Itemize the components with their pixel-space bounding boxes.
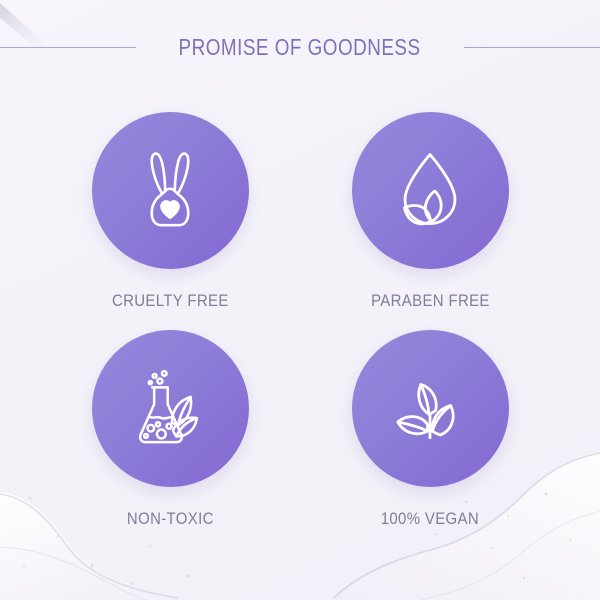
badge-label: 100% VEGAN (381, 509, 479, 529)
badge-disc (352, 330, 509, 487)
badge-paraben-free[interactable]: PARABEN FREE (352, 112, 509, 330)
badge-grid: CRUELTY FREE PARABEN FREE (40, 112, 560, 548)
droplet-leaf-icon (382, 143, 478, 239)
badge-disc (92, 112, 249, 269)
bunny-heart-icon (122, 143, 218, 239)
three-leaves-icon (382, 361, 478, 457)
badge-label: CRUELTY FREE (112, 291, 229, 311)
badge-disc (92, 330, 249, 487)
page-title: PROMISE OF GOODNESS (179, 34, 421, 61)
badge-cruelty-free[interactable]: CRUELTY FREE (92, 112, 249, 330)
header-rule-left (0, 47, 136, 48)
promise-of-goodness-panel: PROMISE OF GOODNESS CRUELTY FREE (0, 0, 600, 600)
flask-leaf-icon (122, 361, 218, 457)
header-rule-right (464, 47, 600, 48)
badge-label: NON-TOXIC (127, 509, 214, 529)
badge-non-toxic[interactable]: NON-TOXIC (92, 330, 249, 548)
badge-label: PARABEN FREE (371, 291, 490, 311)
badge-vegan[interactable]: 100% VEGAN (352, 330, 509, 548)
badge-disc (352, 112, 509, 269)
section-header: PROMISE OF GOODNESS (0, 30, 600, 64)
